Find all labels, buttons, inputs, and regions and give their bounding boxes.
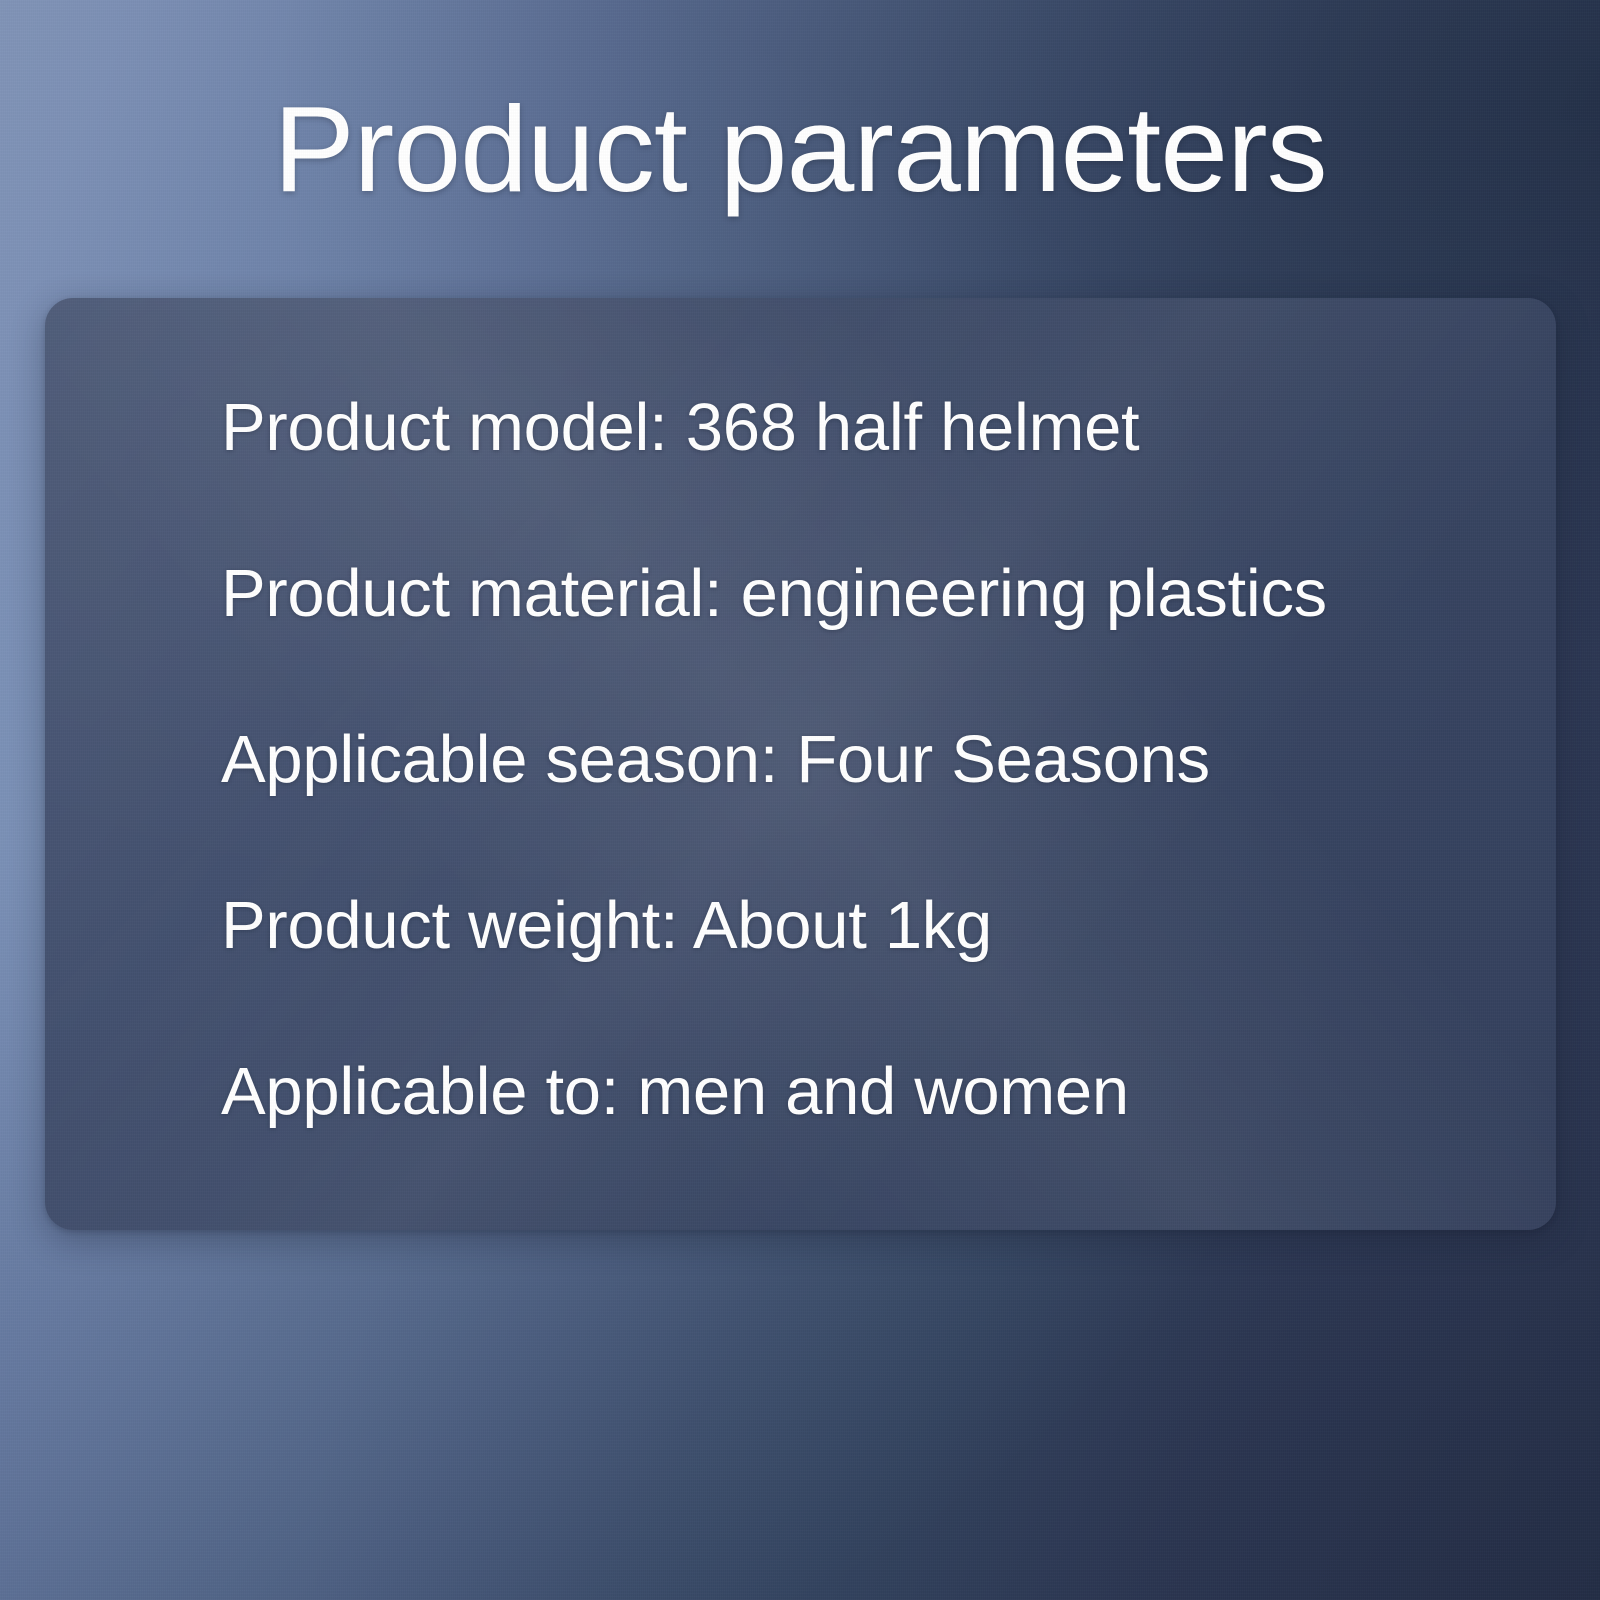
spec-row-product-material: Product material: engineering plastics	[221, 510, 1516, 676]
page-title: Product parameters	[0, 88, 1600, 210]
product-specs-list: Product model: 368 half helmet Product m…	[221, 298, 1516, 1174]
spec-row-applicable-season: Applicable season: Four Seasons	[221, 676, 1516, 842]
product-specs-card: Product model: 368 half helmet Product m…	[45, 298, 1556, 1230]
spec-row-product-model: Product model: 368 half helmet	[221, 344, 1516, 510]
product-parameters-slide: Product parameters Product model: 368 ha…	[0, 0, 1600, 1600]
spec-row-applicable-to: Applicable to: men and women	[221, 1008, 1516, 1174]
spec-row-product-weight: Product weight: About 1kg	[221, 842, 1516, 1008]
